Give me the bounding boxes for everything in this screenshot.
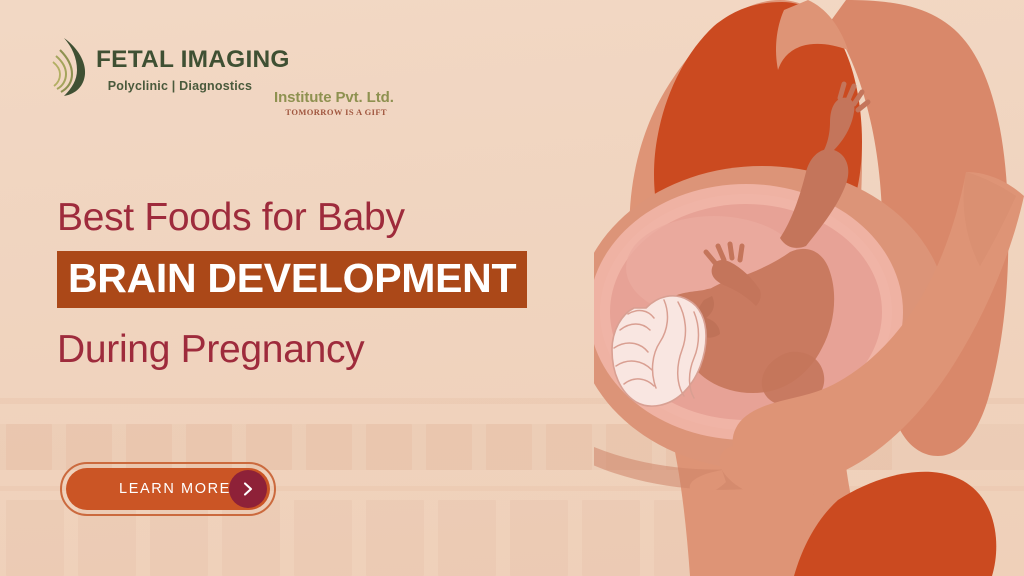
background-block: [366, 500, 424, 576]
promo-banner: FETAL IMAGING Polyclinic | Diagnostics I…: [0, 0, 1024, 576]
headline-block: Best Foods for Baby BRAIN DEVELOPMENT Du…: [57, 198, 617, 371]
background-block: [366, 424, 412, 470]
background-block: [438, 500, 496, 576]
background-block: [510, 500, 568, 576]
logo-secondary: Institute Pvt. Ltd. TOMORROW IS A GIFT: [274, 90, 404, 117]
background-block: [6, 500, 64, 576]
chevron-right-icon: [229, 470, 267, 508]
background-block: [546, 424, 592, 470]
headline-highlight-band: BRAIN DEVELOPMENT: [57, 251, 527, 308]
background-block: [306, 424, 352, 470]
logo-title: FETAL IMAGING: [96, 48, 290, 73]
logo-subtitle: Polyclinic | Diagnostics: [96, 79, 264, 93]
pregnant-woman-with-fetus-brain-illustration: [594, 0, 1024, 576]
background-block: [486, 424, 532, 470]
brand-logo[interactable]: FETAL IMAGING Polyclinic | Diagnostics I…: [52, 34, 352, 106]
headline-line-3: During Pregnancy: [57, 330, 617, 371]
green-leaf-soundwave-icon: [52, 36, 94, 98]
background-block: [6, 424, 52, 470]
background-block: [426, 424, 472, 470]
logo-tagline: TOMORROW IS A GIFT: [274, 107, 387, 117]
headline-line-1: Best Foods for Baby: [57, 198, 617, 239]
logo-institute-text: Institute Pvt. Ltd.: [274, 90, 404, 105]
learn-more-button[interactable]: LEARN MORE: [60, 462, 276, 516]
learn-more-button-inner[interactable]: LEARN MORE: [66, 468, 270, 510]
logo-wordmark: FETAL IMAGING Polyclinic | Diagnostics: [96, 48, 290, 93]
headline-line-2: BRAIN DEVELOPMENT: [68, 258, 516, 299]
background-block: [294, 500, 352, 576]
